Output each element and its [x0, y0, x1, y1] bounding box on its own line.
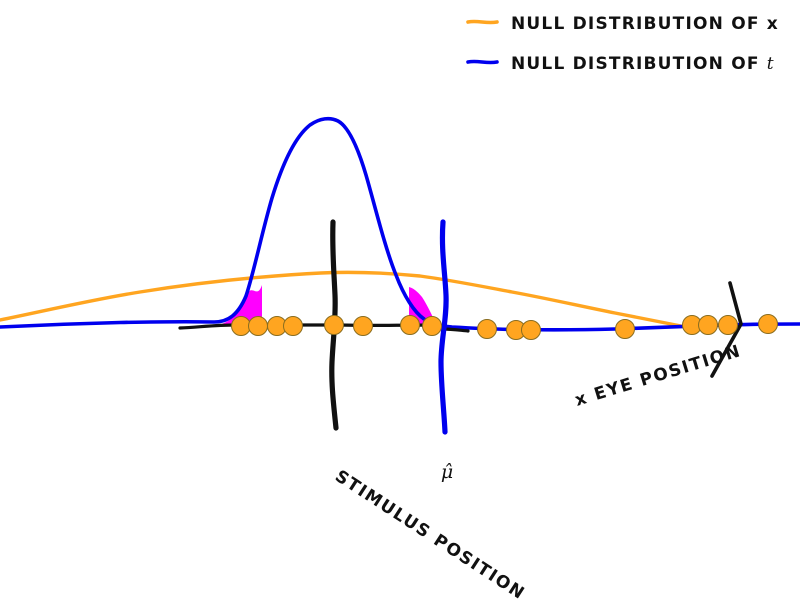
legend-entry-null-distribution-x[interactable]: NULL DISTRIBUTION OF x — [468, 14, 779, 34]
data-point-dot — [325, 316, 344, 335]
data-point-dot — [423, 317, 442, 336]
data-point-dot — [616, 320, 635, 339]
data-point-dot — [719, 316, 738, 335]
legend-entry-null-distribution-t[interactable]: NULL DISTRIBUTION OF t — [468, 54, 775, 74]
data-point-dot — [249, 317, 268, 336]
data-point-dot — [699, 316, 718, 335]
data-point-dot — [478, 320, 497, 339]
data-point-dot — [284, 317, 303, 336]
legend-label-0: NULL DISTRIBUTION OF x — [511, 14, 779, 34]
data-point-dot — [522, 321, 541, 340]
blue-line-swatch-icon — [468, 61, 497, 62]
mu-hat-label: μ̂ — [441, 461, 453, 483]
data-point-dot — [232, 317, 251, 336]
legend-label-1: NULL DISTRIBUTION OF t — [511, 54, 775, 74]
data-point-dot — [759, 315, 778, 334]
data-point-dot — [401, 316, 420, 335]
orange-line-swatch-icon — [468, 21, 497, 22]
data-point-dot — [354, 317, 373, 336]
statistics-null-distribution-figure: NULL DISTRIBUTION OF x NULL DISTRIBUTION… — [0, 0, 800, 600]
